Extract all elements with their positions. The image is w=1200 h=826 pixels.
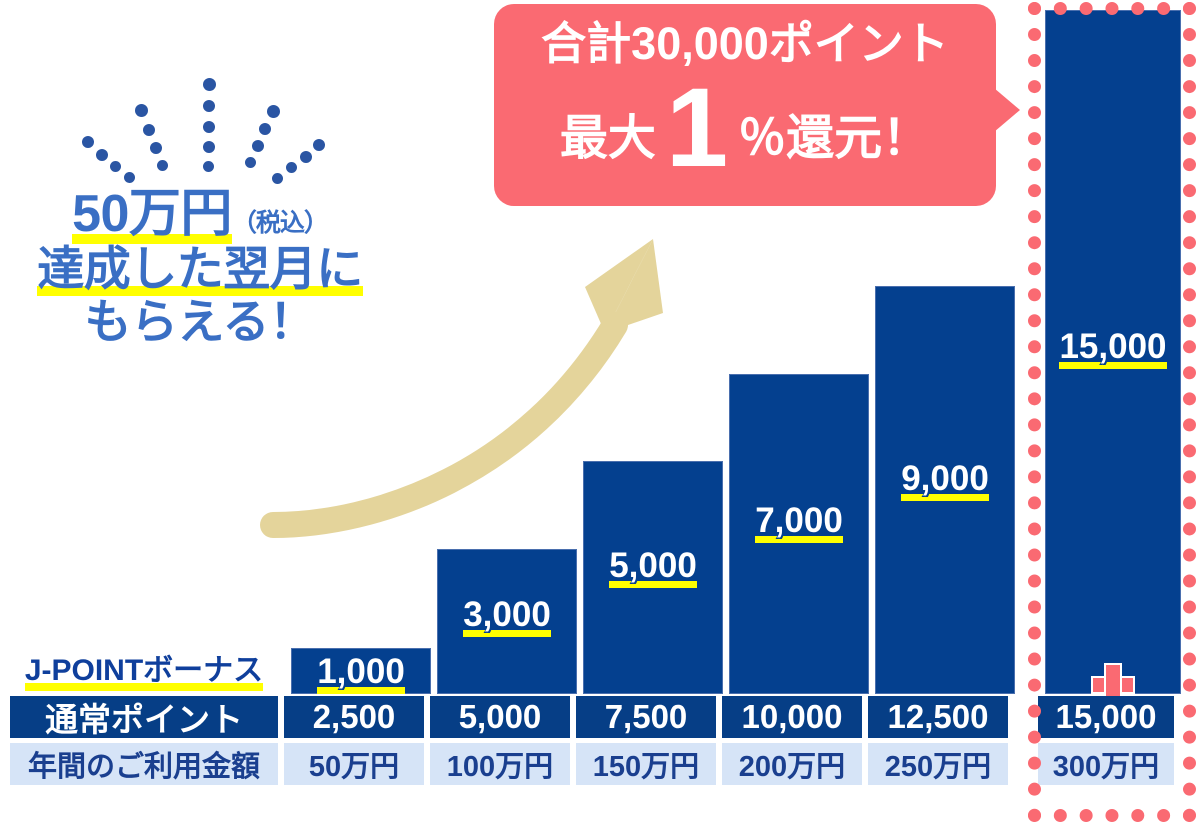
cell-annual-200man: 200万円 xyxy=(722,743,862,785)
sparkle-icon xyxy=(60,78,350,193)
cell-normal-150man: 7,500 xyxy=(576,696,716,738)
callout-prefix: 最大 xyxy=(560,98,656,168)
cell-normal-250man: 12,500 xyxy=(868,696,1008,738)
bar-label-150man: 5,000 xyxy=(583,546,723,588)
headline-amount: 50万円 xyxy=(72,185,232,244)
bar-label-value: 15,000 xyxy=(1059,327,1166,369)
bar-label-value: 9,000 xyxy=(901,459,989,501)
cell-normal-300man: 15,000 xyxy=(1038,696,1174,738)
cell-normal-50man: 2,500 xyxy=(284,696,424,738)
cell-annual-250man: 250万円 xyxy=(868,743,1008,785)
bar-label-300man: 15,000 xyxy=(1043,327,1183,369)
bar-label-value: 7,000 xyxy=(755,501,843,543)
bar-label-value: 5,000 xyxy=(609,546,697,588)
points-table: 通常ポイント 2,500 5,000 7,500 10,000 12,500 1… xyxy=(10,696,1190,790)
callout-total-points: 合計30,000ポイント xyxy=(494,18,996,70)
callout-rate-line: 最大 1 ％還元！ xyxy=(494,72,996,168)
callout-bubble: 合計30,000ポイント 最大 1 ％還元！ xyxy=(494,4,996,206)
jpoint-bonus-text: J-POINTボーナス xyxy=(25,645,263,691)
cell-annual-300man: 300万円 xyxy=(1038,743,1174,785)
bar-label-value: 1,000 xyxy=(317,652,405,694)
row-header-normal-points: 通常ポイント xyxy=(10,696,278,738)
row-header-annual-spend: 年間のご利用金額 xyxy=(10,743,278,785)
table-row-normal-points: 通常ポイント 2,500 5,000 7,500 10,000 12,500 1… xyxy=(10,696,1190,738)
cell-annual-150man: 150万円 xyxy=(576,743,716,785)
bar-label-200man: 7,000 xyxy=(729,501,869,543)
promo-chart-canvas: 50万円（税込） 達成した翌月に もらえる！ 合計30,000ポイント 最大 1… xyxy=(0,0,1200,826)
jpoint-bonus-row-label: J-POINTボーナス xyxy=(8,645,280,691)
callout-tail xyxy=(994,88,1020,132)
table-row-annual-spend: 年間のご利用金額 50万円 100万円 150万円 200万円 250万円 30… xyxy=(10,743,1190,785)
cell-annual-100man: 100万円 xyxy=(430,743,570,785)
bar-label-value: 3,000 xyxy=(463,595,551,637)
bar-label-250man: 9,000 xyxy=(875,459,1015,501)
bar-label-50man: 1,000 xyxy=(291,652,431,694)
callout-suffix: ％還元！ xyxy=(738,98,930,168)
cell-annual-50man: 50万円 xyxy=(284,743,424,785)
bar-label-100man: 3,000 xyxy=(437,595,577,637)
cell-normal-200man: 10,000 xyxy=(722,696,862,738)
callout-big-number: 1 xyxy=(658,84,736,171)
cell-normal-100man: 5,000 xyxy=(430,696,570,738)
